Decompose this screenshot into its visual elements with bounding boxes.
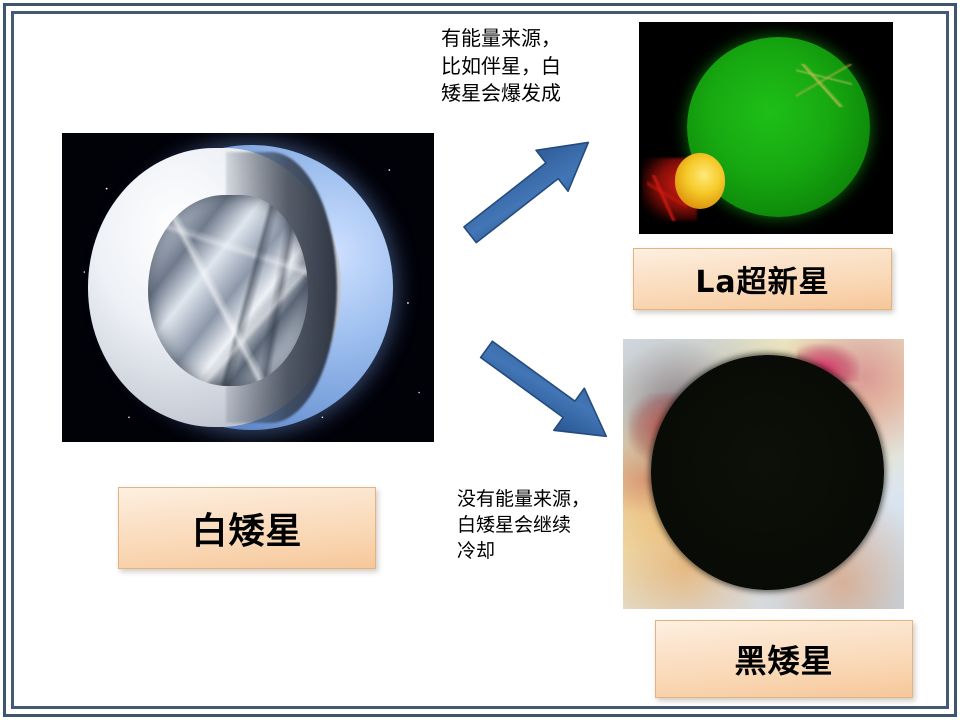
slide-canvas: 有能量来源， 比如伴星，白 矮星会爆发成 没有能量来源， 白矮星会继续 冷却 白… (0, 0, 960, 720)
image-white-dwarf (62, 133, 434, 442)
white-dwarf-crystal-core (148, 195, 308, 387)
arrow-to-supernova (440, 128, 620, 248)
companion-star (675, 153, 726, 208)
caption-no-energy-source: 没有能量来源， 白矮星会继续 冷却 (457, 486, 627, 565)
arrow-to-black-dwarf (462, 338, 634, 450)
black-dwarf-disc (651, 355, 884, 590)
label-white-dwarf: 白矮星 (118, 487, 376, 569)
label-black-dwarf: 黑矮星 (655, 620, 913, 698)
image-black-dwarf (623, 339, 904, 609)
label-supernova: La超新星 (633, 248, 892, 310)
crystal-facets (148, 195, 308, 387)
caption-energy-source: 有能量来源， 比如伴星，白 矮星会爆发成 (441, 25, 609, 108)
image-supernova (639, 22, 893, 234)
star-surface-filament (796, 64, 852, 106)
